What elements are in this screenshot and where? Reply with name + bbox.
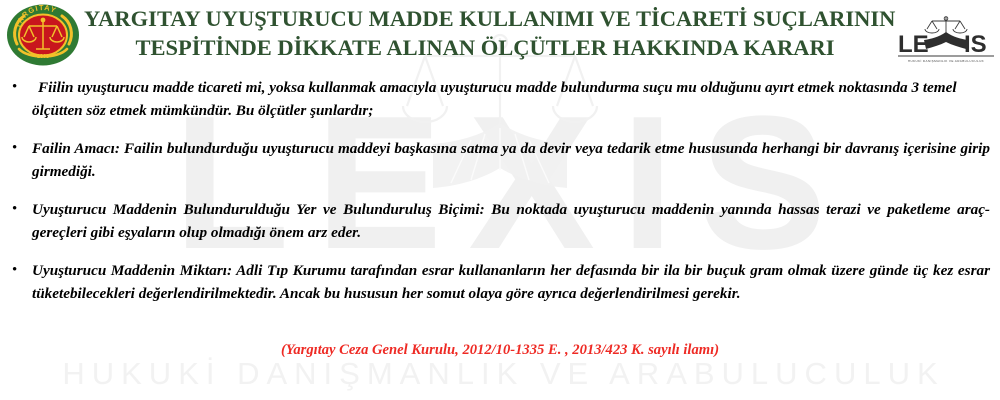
yargitay-seal-icon: YARGITAY 1868 bbox=[6, 4, 80, 66]
page-title-line-2: TESPİTİNDE DİKKATE ALINAN ÖLÇÜTLER HAKKI… bbox=[84, 33, 892, 62]
page-title-line-1: YARGITAY UYUŞTURUCU MADDE KULLANIMI VE T… bbox=[84, 4, 892, 33]
list-item: • Uyuşturucu Maddenin Bulundurulduğu Yer… bbox=[8, 198, 990, 244]
list-item-text: Fiilin uyuşturucu madde ticareti mi, yok… bbox=[32, 76, 990, 122]
page-title: YARGITAY UYUŞTURUCU MADDE KULLANIMI VE T… bbox=[84, 4, 892, 62]
criteria-list: • Fiilin uyuşturucu madde ticareti mi, y… bbox=[8, 76, 990, 320]
list-item: • Failin Amacı: Failin bulundurduğu uyuş… bbox=[8, 137, 990, 183]
list-item: • Uyuşturucu Maddenin Miktarı: Adli Tıp … bbox=[8, 259, 990, 305]
list-item-text: Uyuşturucu Maddenin Bulundurulduğu Yer v… bbox=[32, 198, 990, 244]
bullet-marker-icon: • bbox=[8, 76, 32, 99]
bullet-marker-icon: • bbox=[8, 198, 32, 221]
bullet-marker-icon: • bbox=[8, 137, 32, 160]
case-citation: (Yargıtay Ceza Genel Kurulu, 2012/10-133… bbox=[0, 342, 1000, 359]
list-item: • Fiilin uyuşturucu madde ticareti mi, y… bbox=[8, 76, 990, 122]
lexis-logo-subtitle: HUKUKİ DANIŞMANLIK VE ARABULUCULUK bbox=[908, 58, 985, 63]
document-page: YARGITAY 1868 YARGITAY UYUŞTURUCU MADDE … bbox=[0, 0, 1000, 400]
bullet-marker-icon: • bbox=[8, 259, 32, 282]
document-header: YARGITAY 1868 YARGITAY UYUŞTURUCU MADDE … bbox=[0, 0, 1000, 70]
list-item-text: Failin Amacı: Failin bulundurduğu uyuştu… bbox=[32, 137, 990, 183]
lexis-logo-text-right: IS bbox=[964, 31, 987, 58]
list-item-text: Uyuşturucu Maddenin Miktarı: Adli Tıp Ku… bbox=[32, 259, 990, 305]
lexis-logo-text-left: LE bbox=[898, 31, 929, 58]
lexis-logo-icon[interactable]: LE IS HUKUKİ DANIŞMANLIK VE ARABULUCULUK bbox=[896, 16, 996, 66]
seal-year-text: 1868 bbox=[37, 54, 49, 60]
